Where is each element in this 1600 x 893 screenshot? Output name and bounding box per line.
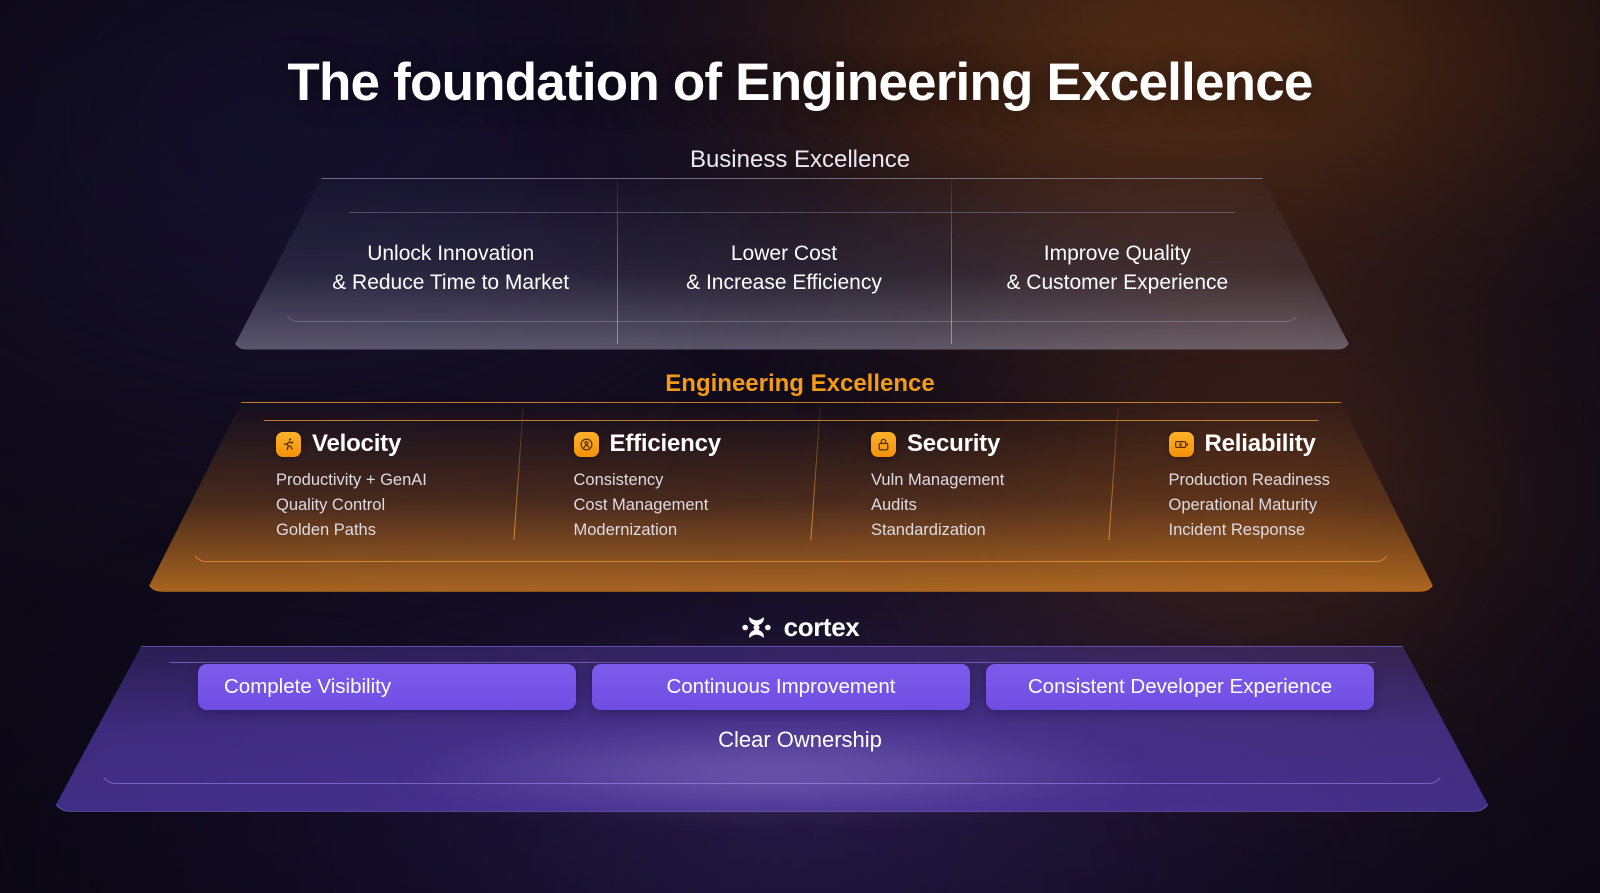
engineering-column-velocity: Velocity Productivity + GenAI Quality Co…	[196, 430, 494, 550]
running-person-icon	[276, 432, 301, 457]
business-column-line2: & Reduce Time to Market	[332, 268, 569, 297]
lock-icon	[871, 432, 896, 457]
engineering-item: Consistency	[574, 468, 792, 493]
engineering-column-security: Security Vuln Management Audits Standard…	[791, 430, 1089, 550]
engineering-column-header: Reliability	[1169, 430, 1387, 458]
engineering-item: Vuln Management	[871, 468, 1089, 493]
engineering-item: Standardization	[871, 518, 1089, 543]
engineering-item: Audits	[871, 493, 1089, 518]
business-column-line2: & Increase Efficiency	[686, 268, 882, 297]
engineering-tier-caption: Engineering Excellence	[0, 370, 1600, 398]
clear-ownership-label: Clear Ownership	[0, 727, 1600, 753]
business-tier-caption: Business Excellence	[0, 146, 1600, 174]
engineering-column-reliability: Reliability Production Readiness Operati…	[1089, 430, 1387, 550]
pill-consistent-developer-experience[interactable]: Consistent Developer Experience	[986, 664, 1374, 710]
business-column-improve-quality: Improve Quality & Customer Experience	[951, 226, 1284, 310]
cortex-wordmark: cortex	[784, 612, 860, 643]
engineering-item: Productivity + GenAI	[276, 468, 494, 493]
engineering-item: Operational Maturity	[1169, 493, 1387, 518]
battery-icon	[1169, 432, 1194, 457]
engineering-column-title: Efficiency	[610, 430, 721, 458]
cortex-pills: Complete Visibility Continuous Improveme…	[198, 664, 1374, 710]
engineering-column-title: Security	[907, 430, 1000, 458]
business-column-unlock-innovation: Unlock Innovation & Reduce Time to Marke…	[284, 226, 617, 310]
diagram-stage: The foundation of Engineering Excellence…	[0, 0, 1600, 893]
engineering-column-header: Security	[871, 430, 1089, 458]
engineering-item: Incident Response	[1169, 518, 1387, 543]
engineering-item: Modernization	[574, 518, 792, 543]
engineering-column-header: Velocity	[276, 430, 494, 458]
engineering-item: Quality Control	[276, 493, 494, 518]
engineering-item: Production Readiness	[1169, 468, 1387, 493]
pill-continuous-improvement[interactable]: Continuous Improvement	[592, 664, 970, 710]
engineering-item: Golden Paths	[276, 518, 494, 543]
engineering-column-title: Velocity	[312, 430, 401, 458]
cortex-logo-icon	[741, 612, 772, 643]
engineering-item: Cost Management	[574, 493, 792, 518]
business-column-line1: Improve Quality	[1006, 239, 1228, 268]
pill-complete-visibility[interactable]: Complete Visibility	[198, 664, 576, 710]
engineering-column-efficiency: Efficiency Consistency Cost Management M…	[494, 430, 792, 550]
page-title: The foundation of Engineering Excellence	[0, 52, 1600, 113]
business-column-line1: Lower Cost	[686, 239, 882, 268]
engineering-column-title: Reliability	[1205, 430, 1316, 458]
engineering-column-header: Efficiency	[574, 430, 792, 458]
coin-person-icon	[574, 432, 599, 457]
business-columns: Unlock Innovation & Reduce Time to Marke…	[284, 226, 1284, 310]
cortex-brand: cortex	[0, 612, 1600, 643]
business-column-line2: & Customer Experience	[1006, 268, 1228, 297]
business-column-line1: Unlock Innovation	[332, 239, 569, 268]
business-column-lower-cost: Lower Cost & Increase Efficiency	[617, 226, 950, 310]
engineering-columns: Velocity Productivity + GenAI Quality Co…	[196, 430, 1386, 550]
